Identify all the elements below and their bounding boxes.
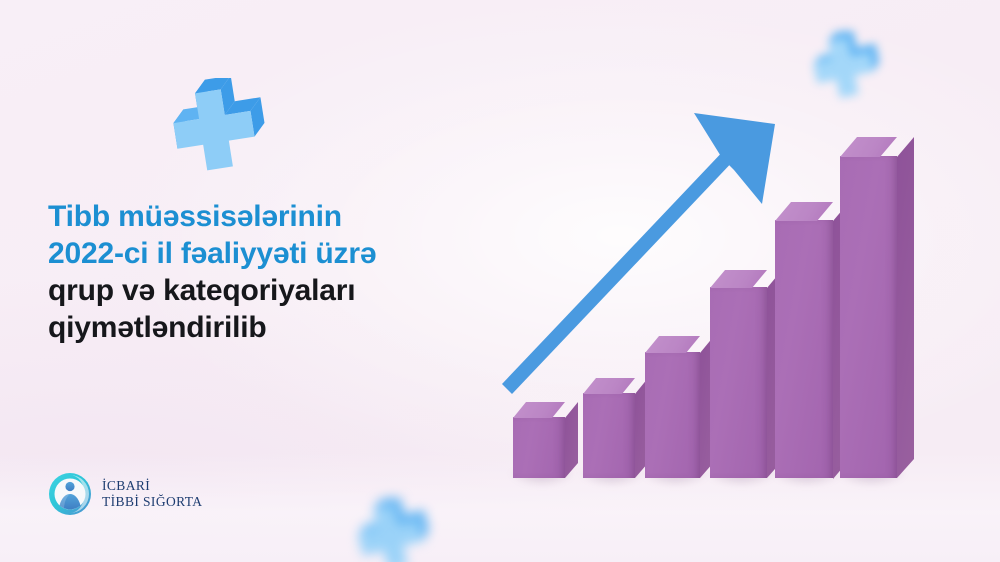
headline-line-2: 2022-ci il fəaliyyəti üzrə (48, 235, 518, 272)
bar-front-face (840, 156, 897, 478)
medical-cross-left (158, 78, 282, 194)
bar-1 (513, 417, 565, 478)
headline-line-1: Tibb müəssisələrinin (48, 198, 518, 235)
bar-top-face (840, 137, 897, 157)
icbari-tibbi-sigorta-logo-icon (48, 472, 92, 516)
bar-front-face (583, 393, 635, 478)
logo-line-2: TİBBİ SIĞORTA (102, 494, 202, 510)
logo-line-1: İCBARİ (102, 478, 202, 494)
arrow-shape (502, 113, 775, 394)
bar-side-face (565, 402, 578, 478)
bar-front-face (513, 417, 565, 478)
bar-2 (583, 393, 635, 478)
upward-trend-arrow (490, 100, 800, 400)
medical-cross-bottom (348, 498, 440, 562)
headline-line-3: qrup və kateqoriyaları (48, 272, 518, 309)
page-title: Tibb müəssisələrinin 2022-ci il fəaliyyə… (48, 198, 518, 346)
brand-logo[interactable]: İCBARİ TİBBİ SIĞORTA (48, 472, 202, 516)
logo-wordmark: İCBARİ TİBBİ SIĞORTA (102, 478, 202, 510)
bar-6 (840, 156, 897, 478)
banner: Tibb müəssisələrinin 2022-ci il fəaliyyə… (0, 0, 1000, 562)
headline-line-4: qiymətləndirilib (48, 309, 518, 346)
bar-top-face (513, 402, 565, 418)
medical-cross-top-right (804, 31, 890, 115)
bar-side-face (897, 137, 914, 478)
